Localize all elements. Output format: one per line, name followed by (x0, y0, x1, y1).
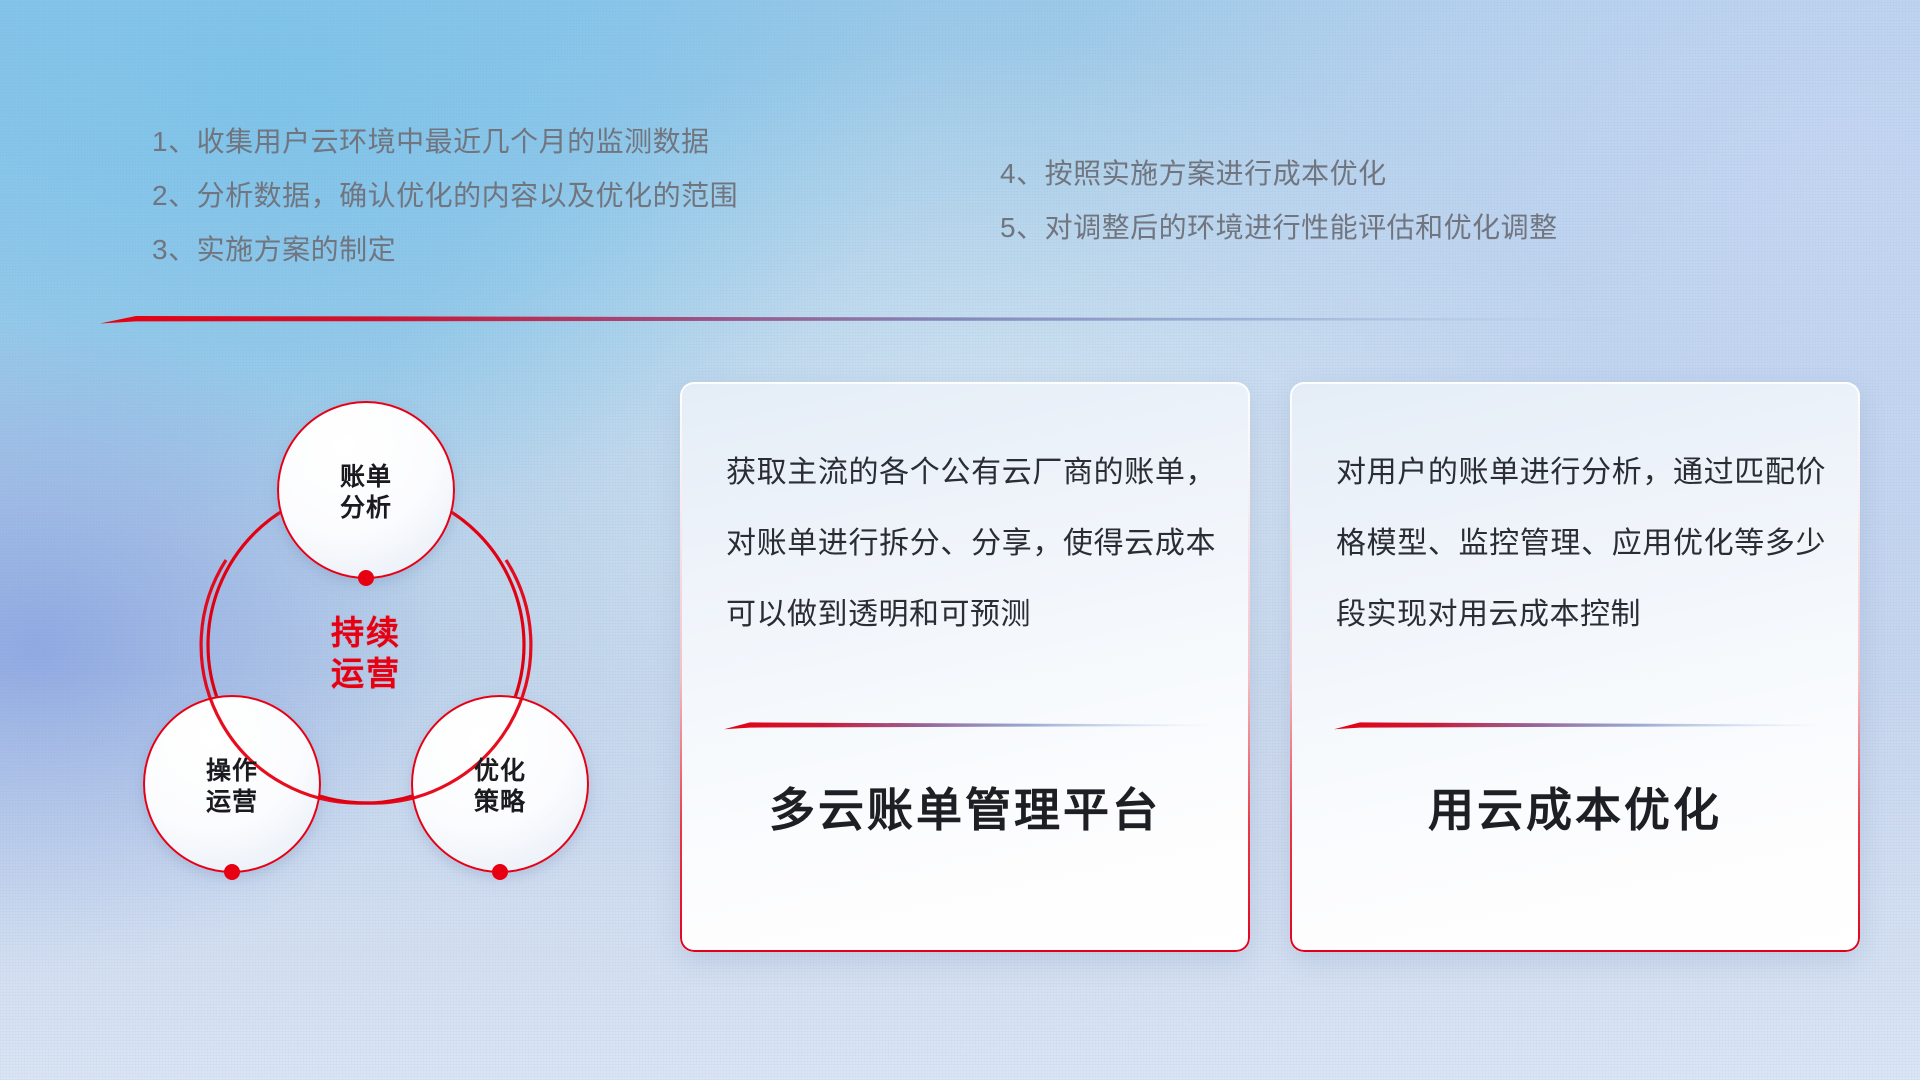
node-dot-optimization (492, 864, 508, 880)
card-body-text: 对用户的账单进行分析，通过匹配价格模型、监控管理、应用优化等多少段实现对用云成本… (1336, 438, 1826, 650)
section-divider (100, 312, 1660, 326)
card-accent-rule (1334, 720, 1824, 731)
center-label-line-1: 持续 (266, 612, 466, 653)
node-label-billing-analysis[interactable]: 账单 分析 (286, 462, 446, 523)
node-label-billing-analysis-line-2: 分析 (286, 493, 446, 524)
step-item-2: 2、分析数据，确认优化的内容以及优化的范围 (152, 182, 738, 210)
node-label-operations-line-2: 运营 (152, 787, 312, 818)
card-accent-rule (724, 720, 1214, 731)
node-label-optimization-line-1: 优化 (420, 756, 580, 787)
step-item-4: 4、按照实施方案进行成本优化 (1000, 160, 1558, 188)
center-label-line-2: 运营 (266, 653, 466, 694)
card-body-text: 获取主流的各个公有云厂商的账单，对账单进行拆分、分享，使得云成本可以做到透明和可… (726, 438, 1216, 650)
continuous-operations-diagram: 持续 运营 账单 分析 操作 运营 优化 策略 (100, 350, 660, 940)
feature-card-cloud-cost-optimization[interactable]: 对用户的账单进行分析，通过匹配价格模型、监控管理、应用优化等多少段实现对用云成本… (1290, 382, 1860, 952)
node-label-operations-line-1: 操作 (152, 756, 312, 787)
node-label-operations[interactable]: 操作 运营 (152, 756, 312, 817)
steps-list-left: 1、收集用户云环境中最近几个月的监测数据 2、分析数据，确认优化的内容以及优化的… (152, 128, 738, 290)
node-dot-operations (224, 864, 240, 880)
slide-canvas: 1、收集用户云环境中最近几个月的监测数据 2、分析数据，确认优化的内容以及优化的… (0, 0, 1920, 1080)
node-label-optimization-line-2: 策略 (420, 787, 580, 818)
node-dot-billing-analysis (358, 570, 374, 586)
node-label-billing-analysis-line-1: 账单 (286, 462, 446, 493)
step-item-1: 1、收集用户云环境中最近几个月的监测数据 (152, 128, 738, 156)
node-label-optimization[interactable]: 优化 策略 (420, 756, 580, 817)
card-title: 多云账单管理平台 (680, 774, 1250, 840)
step-item-5: 5、对调整后的环境进行性能评估和优化调整 (1000, 214, 1558, 242)
card-title: 用云成本优化 (1290, 774, 1860, 840)
diagram-center-label: 持续 运营 (266, 612, 466, 695)
step-item-3: 3、实施方案的制定 (152, 236, 738, 264)
feature-card-multi-cloud-billing-platform[interactable]: 获取主流的各个公有云厂商的账单，对账单进行拆分、分享，使得云成本可以做到透明和可… (680, 382, 1250, 952)
steps-list-right: 4、按照实施方案进行成本优化 5、对调整后的环境进行性能评估和优化调整 (1000, 160, 1558, 268)
